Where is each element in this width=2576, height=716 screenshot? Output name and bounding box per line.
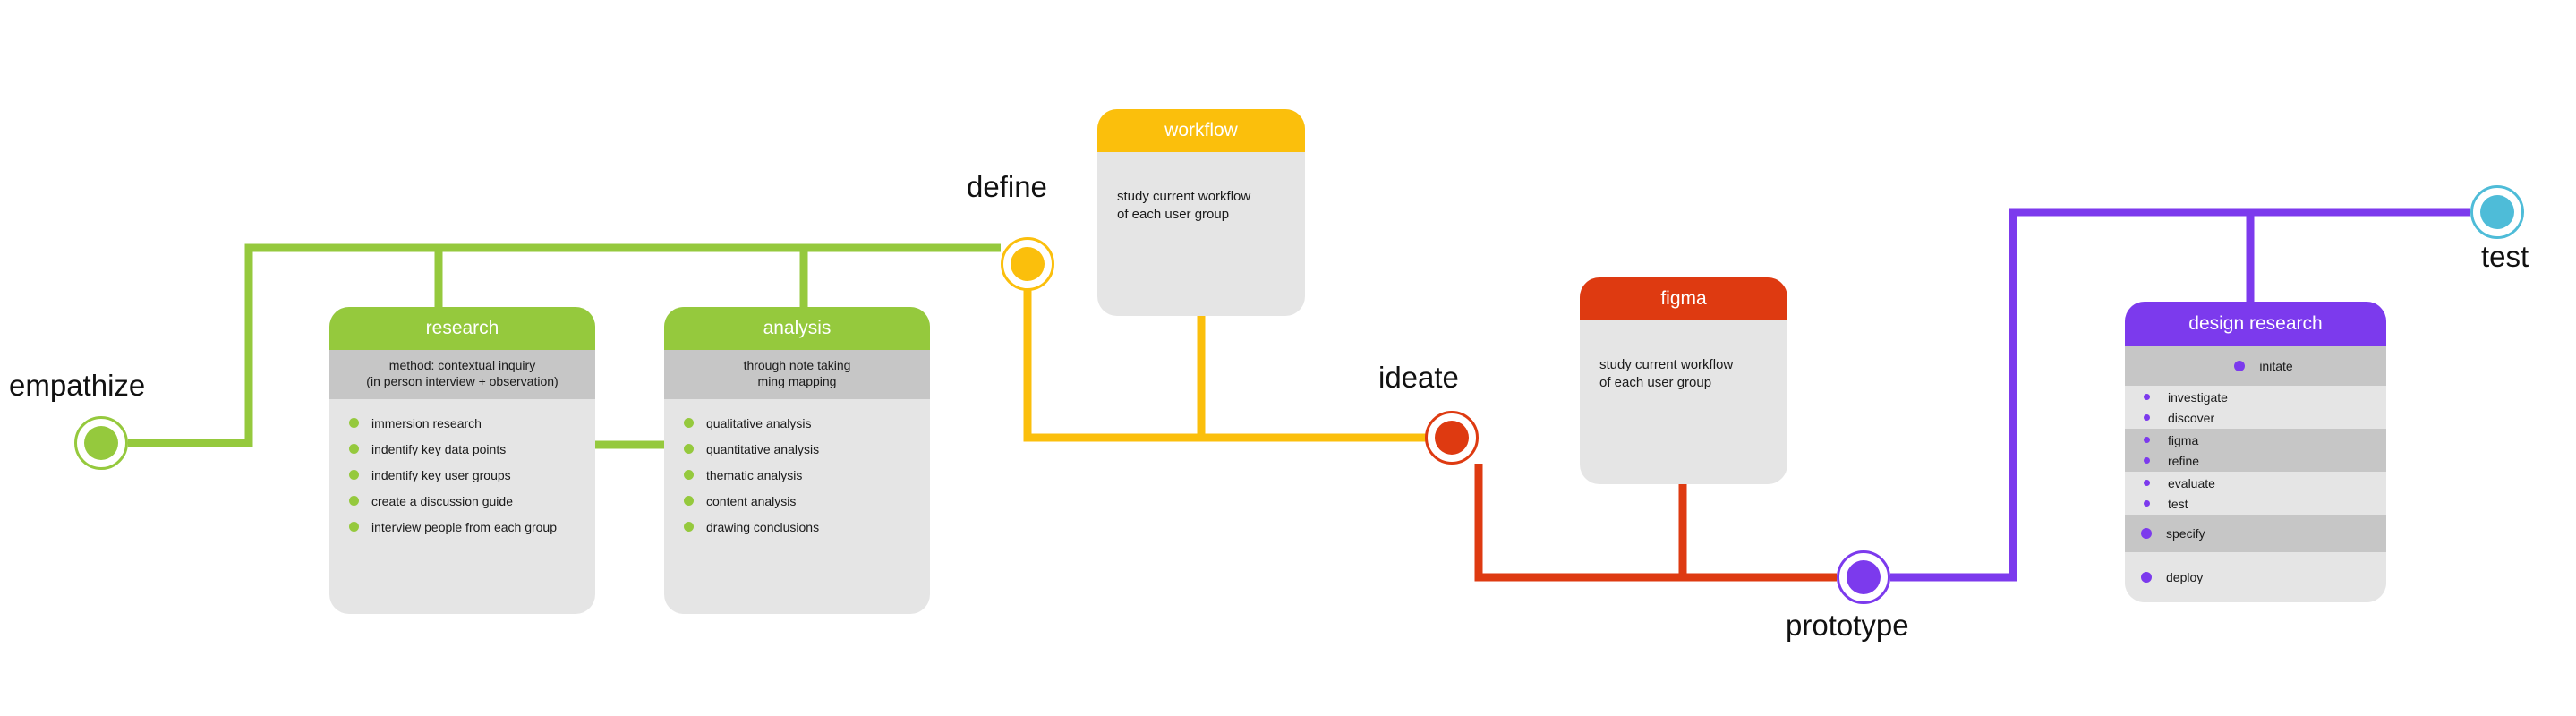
bullet-icon: [684, 522, 694, 532]
list-item[interactable]: figma: [2125, 430, 2386, 450]
card-workflow-note-line1: study current workflow: [1117, 188, 1285, 206]
bullet-icon: [2144, 414, 2150, 421]
node-ideate-dot: [1435, 421, 1469, 455]
list-item-label: qualitative analysis: [706, 416, 812, 430]
node-test-label: test: [2481, 240, 2529, 274]
card-figma-note-line1: study current workflow: [1599, 356, 1768, 374]
bullet-icon: [2144, 394, 2150, 400]
node-define-label: define: [967, 170, 1047, 204]
list-item[interactable]: evaluate: [2125, 473, 2386, 493]
card-research-list: immersion research indentify key data po…: [329, 399, 595, 552]
card-workflow-note-line2: of each user group: [1117, 206, 1285, 224]
list-item[interactable]: indentify key user groups: [329, 462, 595, 488]
card-figma[interactable]: figma study current workflow of each use…: [1580, 277, 1787, 484]
node-test[interactable]: [2470, 185, 2524, 239]
node-prototype-label: prototype: [1786, 609, 1909, 643]
bullet-icon: [684, 418, 694, 428]
list-item-label: figma: [2168, 433, 2198, 447]
node-prototype-dot: [1847, 560, 1881, 594]
node-empathize-dot: [84, 426, 118, 460]
list-item[interactable]: drawing conclusions: [664, 514, 930, 540]
card-research-subtitle: method: contextual inquiry (in person in…: [329, 350, 595, 399]
node-prototype[interactable]: [1837, 550, 1890, 604]
bullet-icon: [349, 496, 359, 506]
list-item-label: evaluate: [2168, 476, 2215, 490]
diagram-canvas: empathize define ideate prototype test r…: [0, 0, 2576, 716]
list-item-label: discover: [2168, 411, 2214, 425]
list-item-label: initate: [2259, 359, 2292, 373]
list-group[interactable]: evaluate test: [2125, 472, 2386, 515]
list-item[interactable]: discover: [2125, 407, 2386, 428]
list-item-label: thematic analysis: [706, 468, 802, 482]
card-figma-note: study current workflow of each user grou…: [1580, 356, 1787, 391]
list-item-label: indentify key user groups: [371, 468, 511, 482]
bullet-icon: [349, 418, 359, 428]
node-empathize-label: empathize: [9, 369, 145, 403]
list-item-label: deploy: [2166, 570, 2203, 584]
list-item[interactable]: indentify key data points: [329, 436, 595, 462]
node-define[interactable]: [1001, 237, 1054, 291]
list-item-label: create a discussion guide: [371, 494, 513, 508]
card-analysis-subtitle: through note taking ming mapping: [664, 350, 930, 399]
card-analysis-subtitle-line1: through note taking: [670, 358, 925, 374]
list-item-label: quantitative analysis: [706, 442, 819, 456]
list-item-label: specify: [2166, 526, 2205, 541]
node-define-dot: [1011, 247, 1045, 281]
list-item[interactable]: create a discussion guide: [329, 488, 595, 514]
list-item[interactable]: deploy: [2125, 552, 2386, 602]
bullet-icon: [349, 522, 359, 532]
node-ideate-label: ideate: [1378, 361, 1459, 395]
card-design-research-title: design research: [2125, 302, 2386, 346]
list-item-label: drawing conclusions: [706, 520, 819, 534]
bullet-icon: [684, 444, 694, 454]
bullet-icon: [2144, 457, 2150, 464]
list-item-label: test: [2168, 497, 2188, 511]
node-ideate[interactable]: [1425, 411, 1479, 465]
card-research[interactable]: research method: contextual inquiry (in …: [329, 307, 595, 614]
card-analysis-subtitle-line2: ming mapping: [670, 374, 925, 390]
list-item[interactable]: qualitative analysis: [664, 410, 930, 436]
card-research-title: research: [329, 307, 595, 350]
card-analysis-title: analysis: [664, 307, 930, 350]
list-item[interactable]: interview people from each group: [329, 514, 595, 540]
bullet-icon: [2144, 437, 2150, 443]
card-figma-title: figma: [1580, 277, 1787, 320]
list-group[interactable]: figma refine: [2125, 429, 2386, 472]
list-item[interactable]: initate: [2125, 346, 2386, 386]
list-item-label: investigate: [2168, 390, 2228, 405]
list-item[interactable]: immersion research: [329, 410, 595, 436]
bullet-icon: [684, 496, 694, 506]
node-test-dot: [2480, 195, 2514, 229]
list-item[interactable]: refine: [2125, 450, 2386, 471]
bullet-icon: [2141, 572, 2152, 583]
list-item[interactable]: thematic analysis: [664, 462, 930, 488]
card-figma-body: study current workflow of each user grou…: [1580, 320, 1787, 404]
node-empathize[interactable]: [74, 416, 128, 470]
bullet-icon: [349, 470, 359, 480]
list-item[interactable]: specify: [2125, 515, 2386, 552]
list-item[interactable]: test: [2125, 493, 2386, 514]
card-design-research[interactable]: design research initate investigate disc…: [2125, 302, 2386, 602]
list-item[interactable]: quantitative analysis: [664, 436, 930, 462]
card-analysis[interactable]: analysis through note taking ming mappin…: [664, 307, 930, 614]
card-workflow[interactable]: workflow study current workflow of each …: [1097, 109, 1305, 316]
bullet-icon: [349, 444, 359, 454]
bullet-icon: [2144, 500, 2150, 507]
list-item-label: indentify key data points: [371, 442, 506, 456]
card-workflow-body: study current workflow of each user grou…: [1097, 152, 1305, 235]
list-item-label: immersion research: [371, 416, 482, 430]
bullet-icon: [2144, 480, 2150, 486]
bullet-icon: [684, 470, 694, 480]
bullet-icon: [2234, 361, 2245, 371]
list-item[interactable]: investigate: [2125, 387, 2386, 407]
bullet-icon: [2141, 528, 2152, 539]
card-workflow-title: workflow: [1097, 109, 1305, 152]
list-item-label: interview people from each group: [371, 520, 557, 534]
card-analysis-list: qualitative analysis quantitative analys…: [664, 399, 930, 552]
list-item[interactable]: content analysis: [664, 488, 930, 514]
list-group[interactable]: investigate discover: [2125, 386, 2386, 429]
card-research-subtitle-line2: (in person interview + observation): [335, 374, 590, 390]
card-figma-note-line2: of each user group: [1599, 374, 1768, 392]
card-workflow-note: study current workflow of each user grou…: [1097, 188, 1305, 223]
card-research-subtitle-line1: method: contextual inquiry: [335, 358, 590, 374]
list-item-label: refine: [2168, 454, 2199, 468]
list-item-label: content analysis: [706, 494, 796, 508]
